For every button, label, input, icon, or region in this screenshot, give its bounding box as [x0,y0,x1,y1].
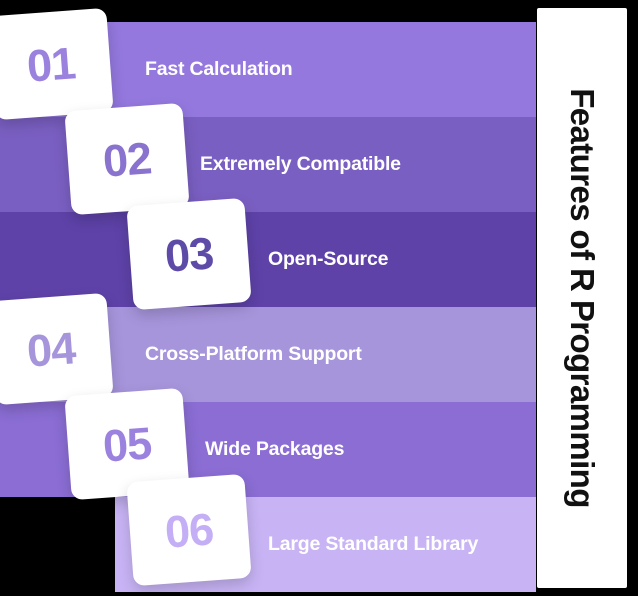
feature-number-5: 05 [101,420,152,468]
feature-number-1: 01 [25,40,76,88]
feature-label-3: Open-Source [268,248,388,271]
page-title: Features of R Programming [563,88,601,508]
feature-label-4: Cross-Platform Support [145,343,362,366]
feature-label-1: Fast Calculation [145,58,292,81]
feature-number-tag-6: 06 [126,474,251,586]
feature-label-5: Wide Packages [205,438,344,461]
feature-number-6: 06 [163,506,214,554]
infographic-canvas: Fast Calculation Extremely Compatible Op… [0,0,638,596]
feature-label-6: Large Standard Library [268,533,478,556]
feature-number-2: 02 [101,135,152,183]
feature-number-tag-3: 03 [126,198,251,310]
title-panel: Features of R Programming [537,8,627,588]
feature-number-tag-1: 01 [0,8,114,120]
feature-number-tag-4: 04 [0,293,114,405]
feature-number-tag-2: 02 [64,103,189,215]
feature-number-3: 03 [163,230,214,278]
feature-label-2: Extremely Compatible [200,153,401,176]
feature-row-3: Open-Source [0,212,536,307]
feature-number-4: 04 [25,325,76,373]
